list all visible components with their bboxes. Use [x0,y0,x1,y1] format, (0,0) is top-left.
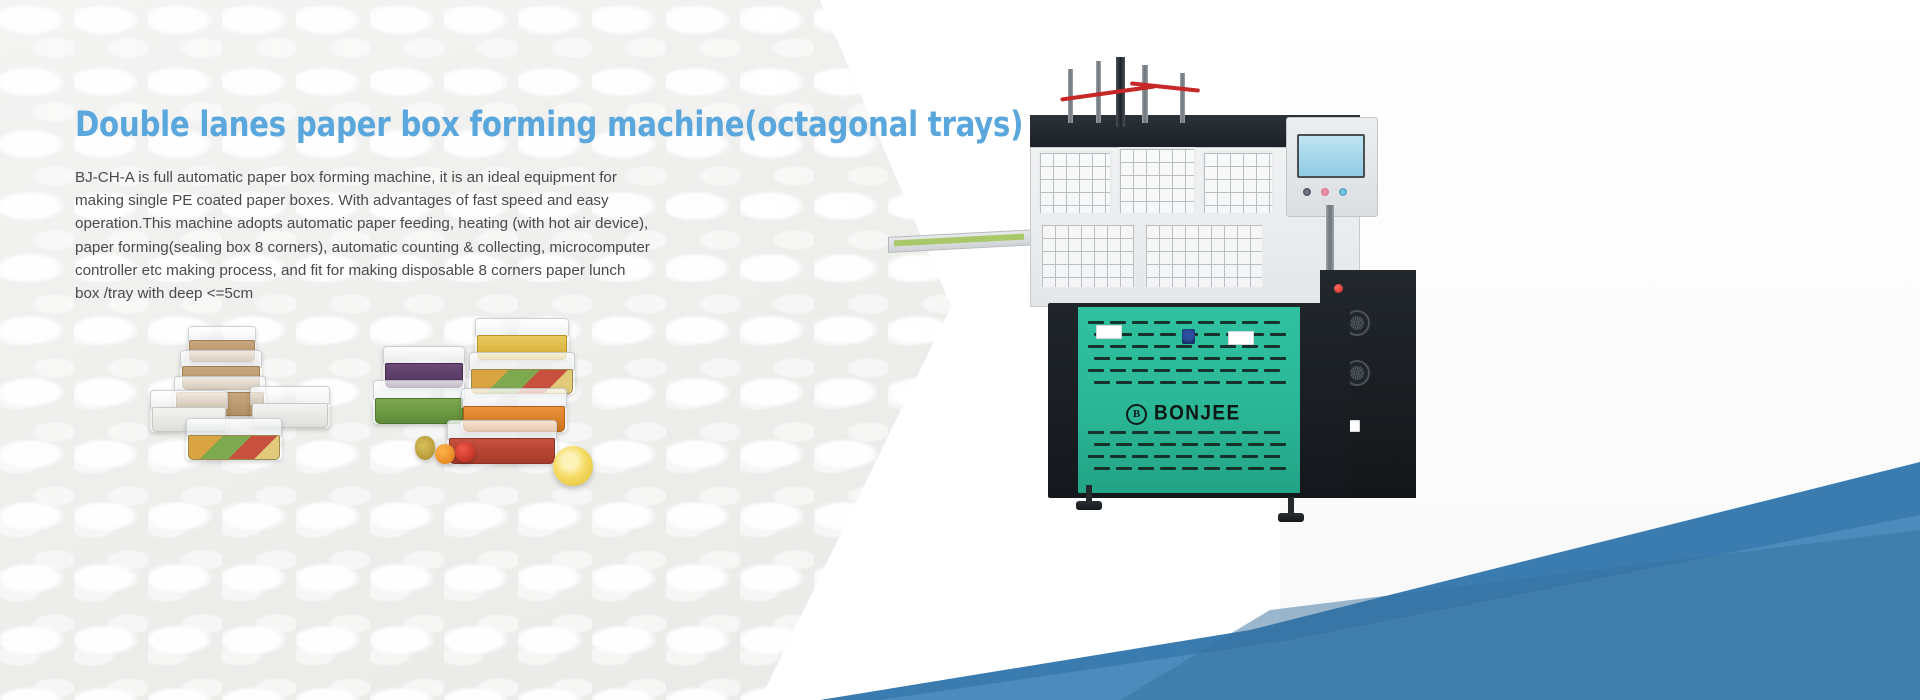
machine-control-box[interactable] [1286,117,1378,217]
fruit-pineapple [415,436,435,460]
machine-front-door[interactable]: B BONJEE [1078,307,1300,493]
page-title: Double lanes paper box forming machine(o… [75,104,652,146]
copy-block: Double lanes paper box forming machine(o… [75,104,695,305]
machine-foot-left [1076,501,1102,510]
control-knob-3[interactable] [1339,188,1347,196]
promo-banner: Double lanes paper box forming machine(o… [0,0,1920,700]
product-photo-kraft-trays [150,320,340,480]
description-paragraph: BJ-CH-A is full automatic paper box form… [75,166,650,305]
machine-pole-4 [1180,73,1185,123]
machine-foot-right [1278,513,1304,522]
fruit-orange [435,444,455,464]
machine-guard-2[interactable] [1118,147,1196,215]
machine-nameplate-left [1096,325,1122,339]
hmi-touchscreen[interactable] [1297,134,1365,178]
control-knob-2[interactable] [1321,188,1329,196]
machine-control-stand [1326,205,1334,275]
power-indicator[interactable] [1334,284,1343,293]
certification-sticker [1182,329,1195,344]
product-photo-machine: B BONJEE [880,55,1440,535]
machine-guard-1[interactable] [1038,151,1112,215]
machine-guard-3[interactable] [1202,151,1274,215]
machine-guard-5[interactable] [1144,223,1264,289]
fruit-lemon-slice [553,446,593,486]
product-photo-food-trays [365,318,605,488]
machine-pole-3 [1142,65,1148,123]
fruit-tomato [455,442,475,462]
machine-guard-4[interactable] [1040,223,1136,289]
machine-nameplate-right [1228,331,1254,345]
brand-name: BONJEE [1154,402,1241,427]
control-knob-1[interactable] [1303,188,1311,196]
brand-logo: B BONJEE [1126,403,1241,425]
brand-mark-icon: B [1126,404,1147,425]
